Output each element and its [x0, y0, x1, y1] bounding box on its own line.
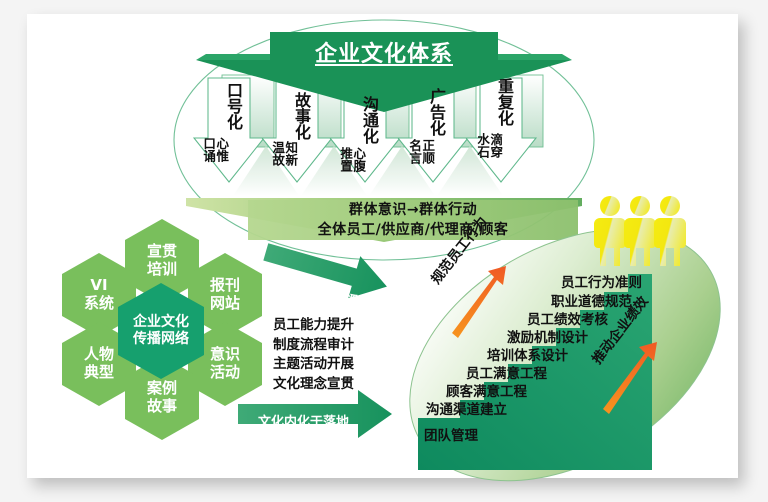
hexagon-3-line1: 报刊: [210, 277, 240, 295]
hexagon-1-line1: 宣贯: [147, 243, 177, 261]
arrow-label-internalization: 文化内化于落地: [258, 411, 349, 430]
hexagon-2-line2: 系统: [84, 295, 114, 313]
column-sub-4-left: 正顺: [421, 139, 434, 164]
column-title-5: 重复化: [496, 78, 512, 126]
column-sub-3-right: 推置: [339, 147, 352, 172]
hexagon-5-line1: 意识: [210, 346, 240, 364]
diagram-title-banner: 企业文化体系: [270, 32, 498, 68]
culture-measures-list: 员工能力提升 制度流程审计 主题活动开展 文化理念宣贯: [273, 316, 354, 394]
hexagon-6-line2: 故事: [147, 398, 177, 416]
hexagon-center-line1: 企业文化: [133, 314, 189, 331]
stair-item-2: 职业道德规范: [551, 290, 632, 310]
column-sub-1-right: 口诵: [202, 137, 215, 162]
column-sub-5-left: 滴穿: [489, 133, 502, 158]
column-sub-2-right: 温故: [271, 141, 284, 166]
stair-item-6: 员工满意工程: [466, 362, 547, 382]
base-banner: 群体意识→群体行动 全体员工/供应商/代理商/顾客: [248, 200, 578, 238]
hexagon-4-line2: 典型: [84, 364, 114, 382]
column-sub-3-left: 心腹: [352, 147, 365, 172]
hexagon-1-line2: 培训: [147, 261, 177, 279]
column-sub-1: 心惟 口诵: [202, 137, 228, 162]
diagram-canvas: 企业文化体系 口号化 故事化 沟通化 广告化 重复化 心惟 口诵 知新 温故 心…: [0, 0, 768, 502]
stair-item-4: 激励机制设计: [507, 326, 588, 346]
column-sub-2-left: 知新: [284, 141, 297, 166]
column-sub-3: 心腹 推置: [339, 147, 365, 172]
list-item: 员工能力提升: [273, 316, 354, 336]
hexagon-4-line1: 人物: [84, 346, 114, 364]
column-title-2: 故事化: [293, 92, 309, 140]
column-sub-5-right: 水石: [476, 133, 489, 158]
hexagon-6-line1: 案例: [147, 380, 177, 398]
column-title-4: 广告化: [428, 88, 444, 136]
list-item: 主题活动开展: [273, 355, 354, 375]
column-sub-1-left: 心惟: [215, 137, 228, 162]
stair-item-5: 培训体系设计: [487, 344, 568, 364]
list-item: 文化理念宣贯: [273, 375, 354, 395]
stair-item-9: 团队管理: [424, 424, 478, 444]
base-banner-line1: 群体意识→群体行动: [349, 199, 477, 219]
column-sub-2: 知新 温故: [271, 141, 297, 166]
hexagon-5-line2: 活动: [210, 364, 240, 382]
stair-item-1: 员工行为准则: [561, 271, 642, 291]
hexagon-center-line2: 传播网络: [133, 331, 189, 348]
hexagon-3-line2: 网站: [210, 295, 240, 313]
page-title: 企业文化体系: [270, 36, 498, 68]
column-sub-4: 正顺 名言: [408, 139, 434, 164]
column-title-1: 口号化: [225, 82, 241, 130]
column-title-3: 沟通化: [361, 96, 377, 144]
stair-item-3: 员工绩效考核: [527, 308, 608, 328]
column-sub-5: 滴穿 水石: [476, 133, 502, 158]
list-item: 制度流程审计: [273, 336, 354, 356]
hexagon-2-line1: VI: [84, 277, 114, 295]
stair-item-7: 顾客满意工程: [446, 380, 527, 400]
column-sub-4-right: 名言: [408, 139, 421, 164]
stair-item-8: 沟通渠道建立: [426, 398, 507, 418]
